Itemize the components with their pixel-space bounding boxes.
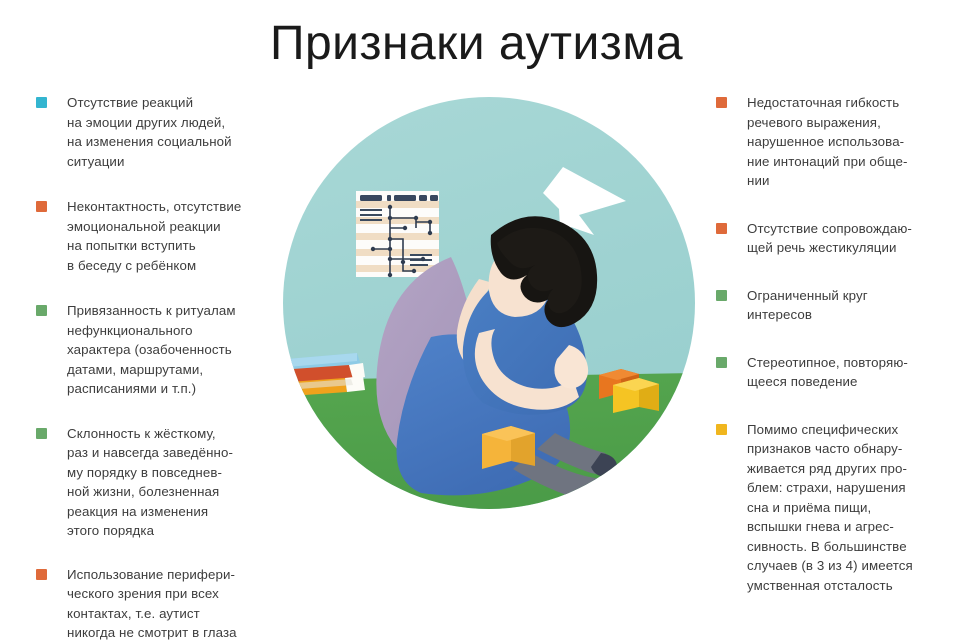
- list-item-text: Отсутствие реакций на эмоции других люде…: [67, 93, 232, 171]
- list-item: Отсутствие сопровождаю- щей речь жестику…: [716, 219, 953, 258]
- bullet-cyan-icon: [36, 97, 47, 108]
- list-item-text: Неконтактность, отсутствие эмоциональной…: [67, 197, 241, 275]
- bullet-orange-icon: [36, 201, 47, 212]
- wall-poster: [356, 191, 439, 277]
- list-item: Помимо специфических признаков часто обн…: [716, 420, 953, 596]
- bullet-yellow-icon: [716, 424, 727, 435]
- bullet-orange-icon: [36, 569, 47, 580]
- list-item-text: Стереотипное, повторяю- щееся поведение: [747, 353, 908, 392]
- list-item: Ограниченный круг интересов: [716, 286, 953, 325]
- list-item: Склонность к жёсткому, раз и навсегда за…: [36, 424, 286, 541]
- bullet-green-icon: [716, 290, 727, 301]
- bullet-green-icon: [36, 305, 47, 316]
- list-item: Привязанность к ритуалам нефункционально…: [36, 301, 286, 399]
- symptoms-right-column: Недостаточная гибкость речевого выражени…: [716, 93, 953, 595]
- bullet-green-icon: [716, 357, 727, 368]
- list-item-text: Привязанность к ритуалам нефункционально…: [67, 301, 236, 399]
- list-item-text: Склонность к жёсткому, раз и навсегда за…: [67, 424, 233, 541]
- list-item-text: Отсутствие сопровождаю- щей речь жестику…: [747, 219, 912, 258]
- list-item: Недостаточная гибкость речевого выражени…: [716, 93, 953, 191]
- bullet-green-icon: [36, 428, 47, 439]
- sock-toe-front: [583, 481, 613, 503]
- list-item-text: Недостаточная гибкость речевого выражени…: [747, 93, 908, 191]
- book-stack: [287, 353, 365, 396]
- list-item: Неконтактность, отсутствие эмоциональной…: [36, 197, 286, 275]
- illustration-scene: [283, 97, 695, 509]
- bullet-orange-icon: [716, 97, 727, 108]
- list-item: Использование перифери- ческого зрения п…: [36, 565, 286, 643]
- list-item: Отсутствие реакций на эмоции других люде…: [36, 93, 286, 171]
- list-item-text: Использование перифери- ческого зрения п…: [67, 565, 237, 643]
- list-item-text: Ограниченный круг интересов: [747, 286, 868, 325]
- list-item: Стереотипное, повторяю- щееся поведение: [716, 353, 953, 392]
- symptoms-left-column: Отсутствие реакций на эмоции других люде…: [36, 93, 286, 643]
- list-item-text: Помимо специфических признаков часто обн…: [747, 420, 913, 596]
- autism-illustration: [283, 97, 695, 509]
- bullet-orange-icon: [716, 223, 727, 234]
- page-title: Признаки аутизма: [0, 18, 953, 71]
